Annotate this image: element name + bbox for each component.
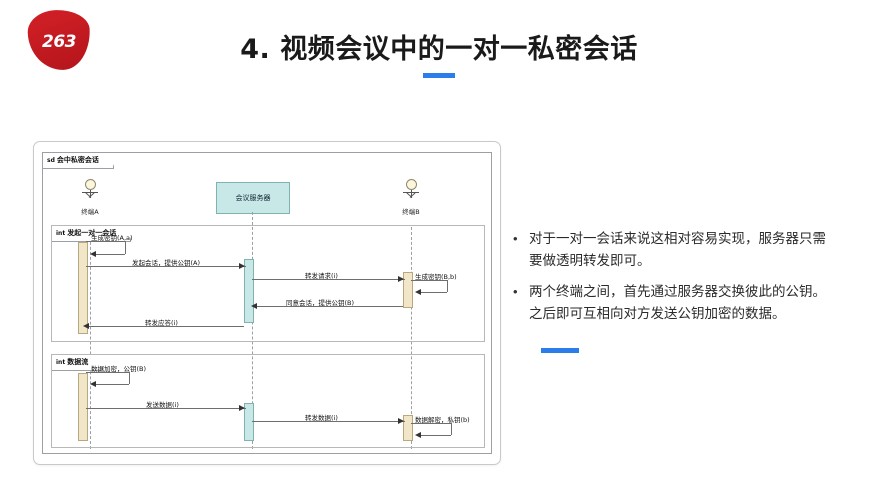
- notes-list: • 对于一对一会话来说这相对容易实现，服务器只需 要做透明转发即可。 • 两个终…: [513, 228, 858, 334]
- bullet-line: 之后即可互相向对方发送公钥加密的数据。: [529, 303, 826, 325]
- message-label-forward-response: 转发应答(i): [145, 317, 178, 327]
- bullet-line: 两个终端之间，首先通过服务器交换彼此的公钥。: [529, 281, 826, 303]
- activation-server-1: [244, 259, 254, 323]
- message-arrow-forward-request: [398, 276, 404, 282]
- sd-frame-label: sd会中私密会话: [43, 153, 114, 169]
- bullet-body: 两个终端之间，首先通过服务器交换彼此的公钥。 之后即可互相向对方发送公钥加密的数…: [529, 281, 826, 325]
- participant-conference-server: 会议服务器: [216, 182, 290, 214]
- self-message-label-encrypt: 数据加密，公钥(B): [91, 363, 146, 373]
- message-arrow-forward-response: [83, 323, 89, 329]
- sd-frame: sd会中私密会话 终端A 会议服务器 终端B int发起一对一会: [42, 152, 492, 454]
- sequence-diagram-card: sd会中私密会话 终端A 会议服务器 终端B int发起一对一会: [33, 141, 501, 465]
- participant-terminal-a: 终端A: [65, 179, 115, 216]
- self-message-label-generate-key-a: 生成密钥(A,a): [91, 232, 133, 242]
- self-message-generate-key-b: [411, 280, 447, 292]
- fragment-keyword-2: int: [56, 359, 65, 366]
- self-message-decrypt: [411, 423, 451, 435]
- bullet-marker: •: [513, 228, 529, 272]
- activation-a-1: [78, 242, 88, 334]
- bullet-line: 对于一对一会话来说这相对容易实现，服务器只需: [529, 228, 826, 250]
- message-label-accept: 同意会话，提供公钥(B): [286, 297, 354, 307]
- actor-head-icon: [406, 179, 417, 190]
- self-message-label-decrypt: 数据解密，私钥(b): [415, 414, 470, 424]
- self-message-encrypt: [86, 372, 129, 384]
- fragment-name-2: 数据流: [67, 358, 88, 366]
- self-message-label-generate-key-b: 生成密钥(B,b): [415, 271, 457, 281]
- message-label-initiate: 发起会话，提供公钥(A): [132, 257, 200, 267]
- bullet-body: 对于一对一会话来说这相对容易实现，服务器只需 要做透明转发即可。: [529, 228, 826, 272]
- actor-head-icon: [85, 179, 96, 190]
- bullet-line: 要做透明转发即可。: [529, 250, 826, 272]
- title-accent-bar: [423, 73, 455, 78]
- participant-terminal-b: 终端B: [386, 179, 436, 216]
- participant-label-b: 终端B: [386, 206, 436, 216]
- message-label-forward-data: 转发数据(i): [305, 412, 338, 422]
- message-arrow-send-data: [239, 405, 245, 411]
- actor-body-icon: [80, 190, 100, 205]
- message-label-forward-request: 转发请求(i): [305, 270, 338, 280]
- message-label-send-data: 发送数据(i): [146, 399, 179, 409]
- actor-body-icon: [401, 190, 421, 205]
- self-message-generate-key-a: [86, 241, 125, 254]
- message-arrow-forward-data: [398, 418, 404, 424]
- fragment-keyword-1: int: [56, 230, 65, 237]
- list-item: • 两个终端之间，首先通过服务器交换彼此的公钥。 之后即可互相向对方发送公钥加密…: [513, 281, 858, 325]
- notes-accent-bar: [541, 348, 579, 353]
- sd-frame-keyword: sd: [47, 157, 55, 164]
- participant-label-server: 会议服务器: [236, 194, 271, 202]
- message-arrow-initiate: [239, 263, 245, 269]
- list-item: • 对于一对一会话来说这相对容易实现，服务器只需 要做透明转发即可。: [513, 228, 858, 272]
- page-title: 4. 视频会议中的一对一私密会话: [0, 27, 878, 66]
- bullet-marker: •: [513, 281, 529, 325]
- participant-label-a: 终端A: [65, 206, 115, 216]
- sd-frame-name: 会中私密会话: [57, 156, 99, 164]
- message-arrow-accept: [251, 303, 257, 309]
